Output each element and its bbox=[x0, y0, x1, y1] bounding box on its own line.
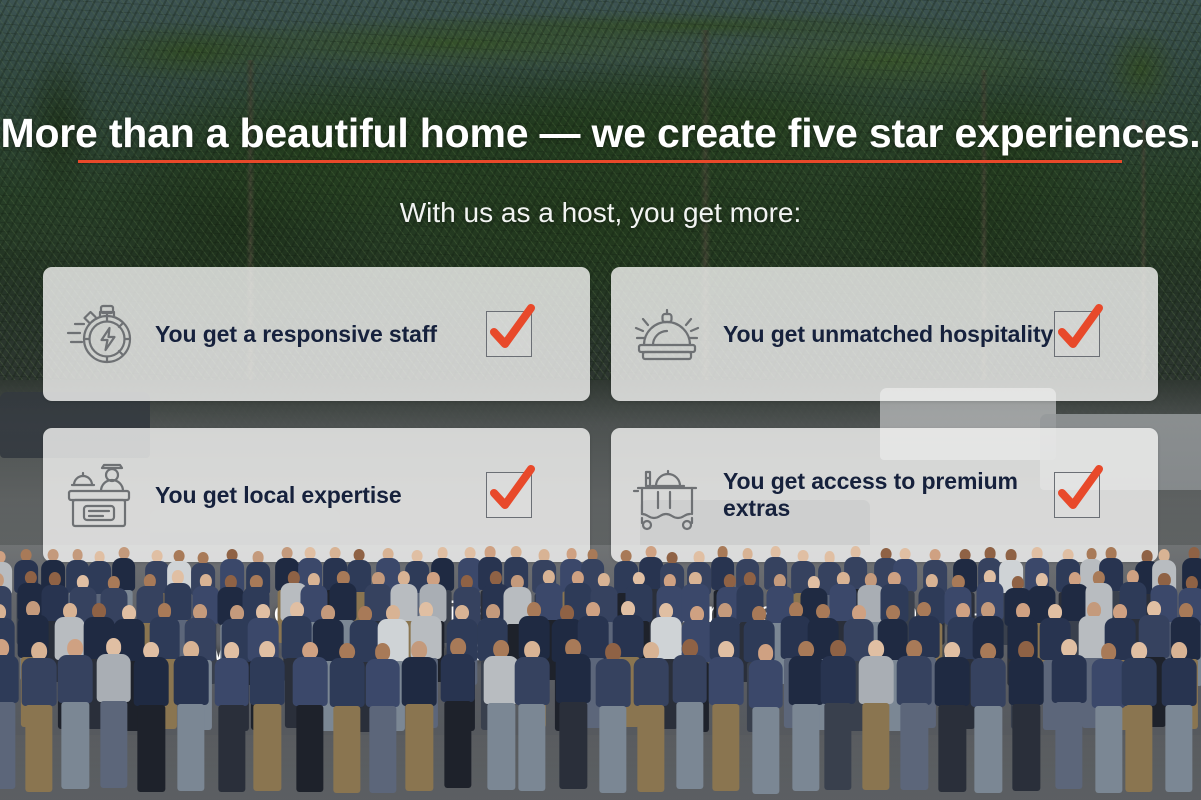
benefit-label: You get access to premium extras bbox=[723, 468, 1054, 522]
benefit-label: You get a responsive staff bbox=[155, 321, 486, 348]
crowd-person-torso bbox=[578, 616, 609, 659]
crowd-person-legs bbox=[599, 706, 626, 793]
crowd-person-legs bbox=[100, 701, 127, 788]
check-icon bbox=[481, 300, 539, 358]
promo-hero-section: More than a beautiful home — we create f… bbox=[0, 0, 1201, 800]
crowd-person-legs bbox=[676, 702, 703, 789]
crowd-person-torso bbox=[859, 656, 894, 704]
crowd-person-torso bbox=[293, 657, 328, 705]
crowd-person-torso bbox=[596, 659, 631, 707]
crowd-person-legs bbox=[0, 702, 15, 789]
benefit-checkbox[interactable] bbox=[486, 311, 532, 357]
benefit-label: You get unmatched hospitality bbox=[723, 321, 1054, 348]
crowd-person-torso bbox=[250, 657, 285, 705]
page-subtitle: With us as a host, you get more: bbox=[0, 197, 1201, 229]
crowd-person-torso bbox=[634, 658, 669, 706]
stopwatch-bolt-icon bbox=[43, 297, 155, 371]
crowd-person-legs bbox=[1165, 705, 1192, 792]
crowd-person-torso bbox=[1052, 655, 1087, 703]
room-service-cart-icon bbox=[611, 458, 723, 532]
crowd-person-legs bbox=[862, 703, 889, 790]
crowd-person-legs bbox=[560, 702, 587, 789]
crowd-person-legs bbox=[296, 705, 323, 792]
crowd-person-torso bbox=[821, 656, 856, 704]
title-underline-rule bbox=[78, 160, 1122, 163]
crowd-person-torso bbox=[515, 657, 550, 705]
crowd-person-torso bbox=[748, 660, 783, 708]
crowd-person-legs bbox=[752, 707, 779, 794]
benefit-card[interactable]: You get access to premium extras bbox=[611, 428, 1158, 562]
crowd-person-torso bbox=[971, 658, 1006, 706]
crowd-person-torso bbox=[1162, 658, 1197, 706]
crowd-person-torso bbox=[402, 657, 437, 705]
crowd-person-torso bbox=[1122, 658, 1157, 706]
check-icon bbox=[481, 461, 539, 519]
crowd-person-legs bbox=[637, 705, 664, 792]
crowd-person-torso bbox=[96, 654, 131, 702]
crowd-person-torso bbox=[174, 656, 209, 704]
crowd-person-legs bbox=[254, 704, 281, 791]
crowd-person-torso bbox=[673, 655, 708, 703]
crowd-person-legs bbox=[62, 702, 89, 789]
crowd-person-torso bbox=[0, 655, 19, 703]
crowd-person-legs bbox=[1013, 704, 1040, 791]
benefit-checkbox[interactable] bbox=[1054, 472, 1100, 518]
benefit-checkbox[interactable] bbox=[1054, 311, 1100, 357]
benefit-card[interactable]: You get local expertise bbox=[43, 428, 590, 562]
crowd-person-legs bbox=[1126, 705, 1153, 792]
service-bell-icon bbox=[611, 297, 723, 371]
check-icon bbox=[1049, 461, 1107, 519]
crowd-person-torso bbox=[484, 656, 519, 704]
crowd-person-legs bbox=[792, 704, 819, 791]
crowd-person-legs bbox=[218, 705, 245, 792]
crowd-person-torso bbox=[789, 656, 824, 704]
crowd-person-torso bbox=[330, 658, 365, 706]
crowd-person-torso bbox=[935, 657, 970, 705]
benefit-card[interactable]: You get unmatched hospitality bbox=[611, 267, 1158, 401]
benefit-card[interactable]: You get a responsive staff bbox=[43, 267, 590, 401]
crowd-person-legs bbox=[444, 701, 471, 788]
crowd-person-torso bbox=[365, 659, 400, 707]
crowd-person-legs bbox=[824, 703, 851, 790]
crowd-person-legs bbox=[1095, 706, 1122, 793]
crowd-person-torso bbox=[58, 655, 93, 703]
group-photo-region bbox=[0, 545, 1201, 800]
crowd-person-legs bbox=[177, 704, 204, 791]
benefit-label: You get local expertise bbox=[155, 482, 486, 509]
crowd-person-legs bbox=[25, 705, 52, 792]
crowd-person-torso bbox=[1009, 657, 1044, 705]
benefit-checkbox[interactable] bbox=[486, 472, 532, 518]
crowd-person-torso bbox=[556, 654, 591, 702]
crowd-person-torso bbox=[897, 656, 932, 704]
check-icon bbox=[1049, 300, 1107, 358]
crowd-person-legs bbox=[406, 704, 433, 791]
crowd-person-torso bbox=[214, 658, 249, 706]
crowd-person-legs bbox=[975, 706, 1002, 793]
crowd-person-torso bbox=[134, 657, 169, 705]
crowd-person-legs bbox=[712, 704, 739, 791]
crowd-person-legs bbox=[138, 705, 165, 792]
crowd-person-torso bbox=[440, 654, 475, 702]
page-title: More than a beautiful home — we create f… bbox=[0, 110, 1201, 157]
crowd-person-legs bbox=[939, 705, 966, 792]
crowd-person-legs bbox=[518, 704, 545, 791]
crowd-person-legs bbox=[369, 706, 396, 793]
crowd-person-legs bbox=[333, 706, 360, 793]
benefits-grid: You get a responsive staff bbox=[43, 267, 1158, 562]
crowd-person-legs bbox=[901, 703, 928, 790]
crowd-person-legs bbox=[488, 703, 515, 790]
crowd-person-torso bbox=[709, 657, 744, 705]
crowd-person-torso bbox=[1091, 659, 1126, 707]
crowd-person-legs bbox=[1055, 702, 1082, 789]
reception-desk-icon bbox=[43, 458, 155, 532]
crowd-person-torso bbox=[22, 658, 57, 706]
